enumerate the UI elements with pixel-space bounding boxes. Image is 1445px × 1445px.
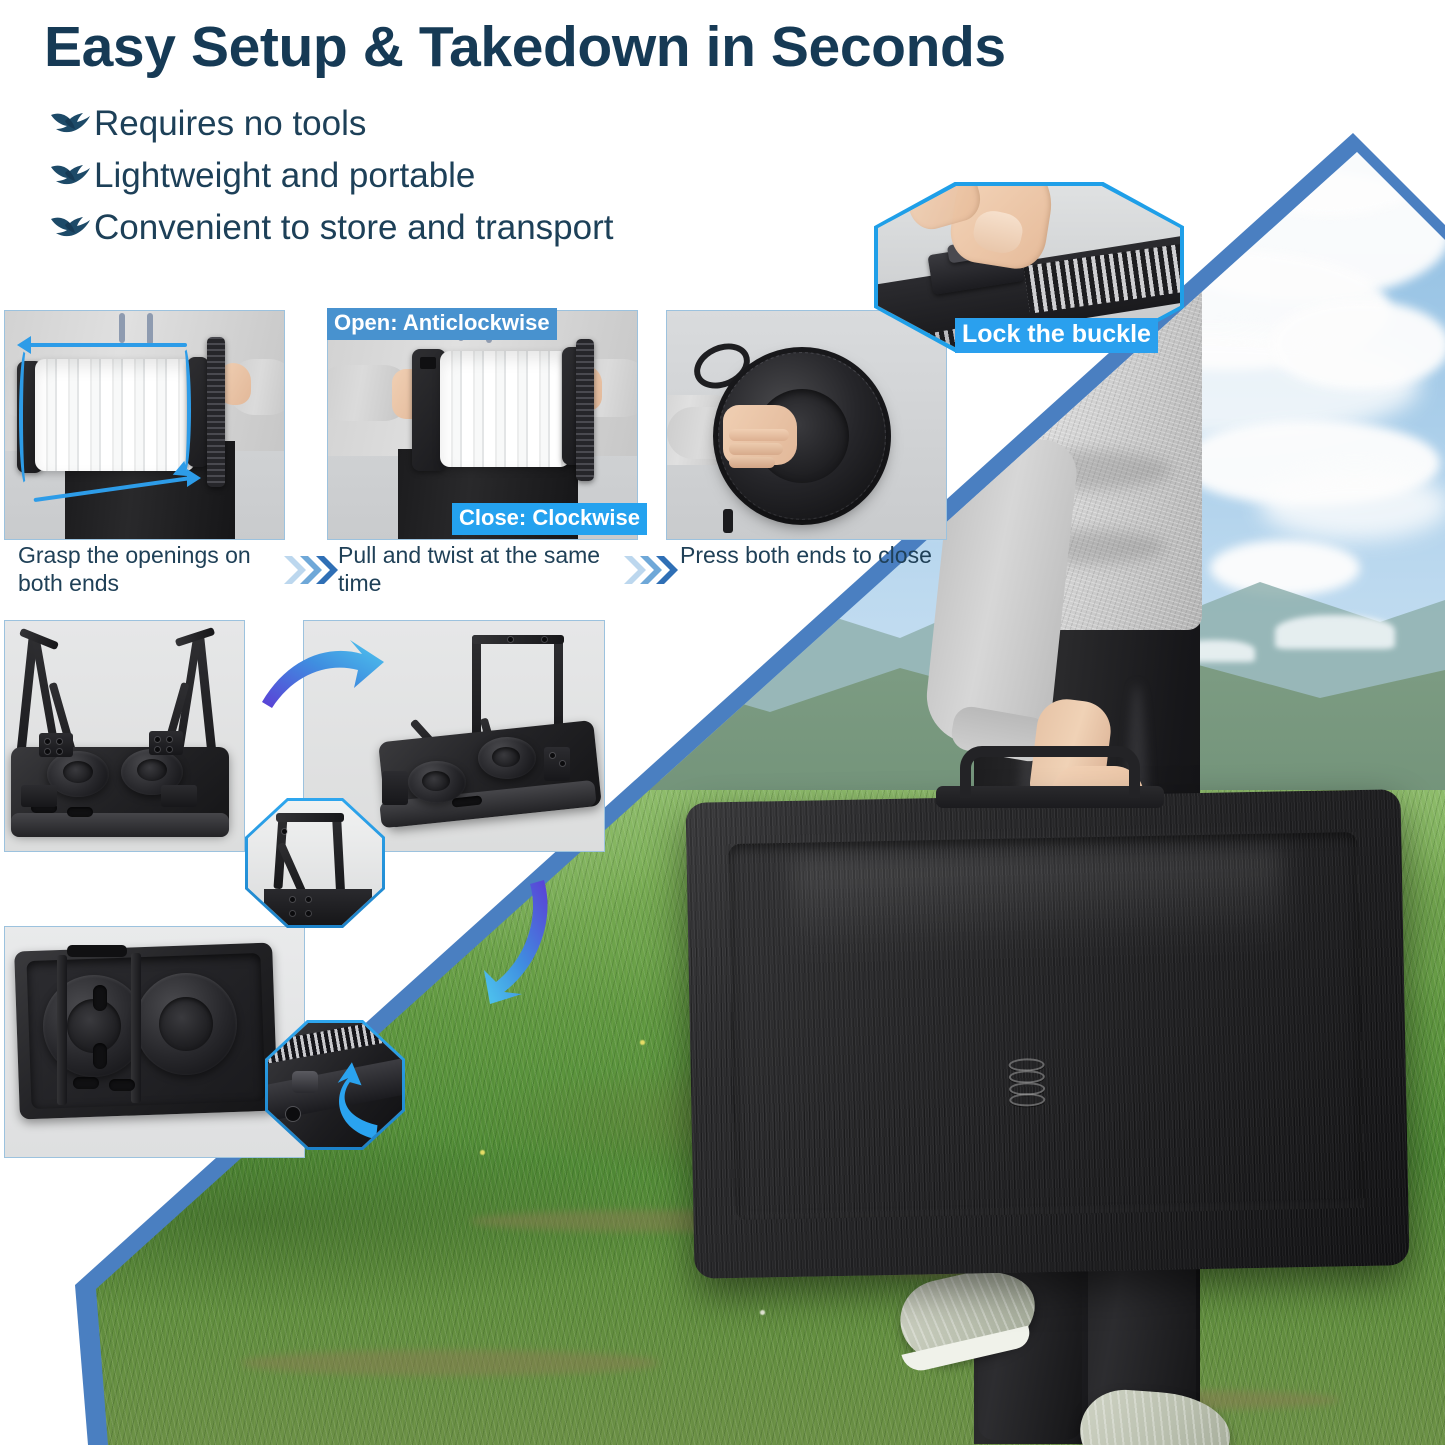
dirt-patch xyxy=(240,1350,660,1376)
drawstring xyxy=(147,313,153,345)
chevron-right-triple-icon xyxy=(282,553,342,587)
chevron-right-triple-icon xyxy=(622,553,682,587)
folding-photo-1 xyxy=(4,620,245,852)
handle-recess xyxy=(67,945,127,957)
label-open-direction: Open: Anticlockwise xyxy=(327,308,557,340)
vent-slot xyxy=(73,1077,99,1089)
finger xyxy=(729,429,789,441)
brand-logo-emboss xyxy=(1008,1058,1045,1107)
bird-icon xyxy=(48,107,94,141)
bolt-hole xyxy=(306,911,311,916)
bird-icon xyxy=(48,211,94,245)
callout-hinge-detail xyxy=(245,798,385,928)
step-caption-3: Press both ends to close xyxy=(680,541,960,569)
bolt-hole xyxy=(57,749,62,754)
vent-slot xyxy=(109,1079,135,1091)
photo xyxy=(5,311,284,539)
case-gloss xyxy=(791,848,1283,955)
frame-crossbar xyxy=(276,813,344,822)
disc-hub xyxy=(137,759,167,781)
label-lock-buckle: Lock the buckle xyxy=(955,318,1158,353)
feature-bullet-list: Requires no tools Lightweight and portab… xyxy=(48,98,613,254)
snow-cap xyxy=(1275,615,1395,649)
case-handle xyxy=(960,746,1140,798)
list-item-label: Requires no tools xyxy=(94,104,366,144)
measure-curve-right xyxy=(177,345,191,475)
flower xyxy=(420,880,425,885)
bolt-hole xyxy=(550,753,555,758)
label-close-direction: Close: Clockwise xyxy=(452,503,647,535)
curved-arrow-icon xyxy=(470,876,566,1006)
bolt-hole xyxy=(155,747,160,752)
list-item: Requires no tools xyxy=(48,98,613,150)
list-item-label: Convenient to store and transport xyxy=(94,208,613,248)
vent-slot xyxy=(93,985,107,1011)
tray-slot xyxy=(67,807,93,817)
shoe-texture xyxy=(1077,1387,1233,1445)
list-item: Lightweight and portable xyxy=(48,150,613,202)
bolt-hole xyxy=(167,747,172,752)
carry-strap xyxy=(207,337,225,487)
vent-slot xyxy=(93,1043,107,1069)
flower xyxy=(760,1310,765,1315)
step-photo-1 xyxy=(4,310,285,540)
accordion-drum xyxy=(35,359,195,471)
list-item: Convenient to store and transport xyxy=(48,202,613,254)
disc-hub xyxy=(159,997,213,1051)
case-body xyxy=(685,789,1409,1279)
measure-arrow-top xyxy=(27,343,187,347)
disc-hub xyxy=(63,761,93,783)
curved-arrow-icon xyxy=(258,636,388,716)
bird-icon xyxy=(48,159,94,193)
bolt-hole xyxy=(45,749,50,754)
finger xyxy=(729,443,783,455)
flower xyxy=(480,1150,485,1155)
flower xyxy=(360,990,365,995)
logo-ring xyxy=(1009,1093,1045,1107)
bolt-hole xyxy=(542,637,547,642)
product-case xyxy=(690,760,1405,1280)
frame-crossbar xyxy=(472,635,564,644)
stand-foot xyxy=(723,509,733,533)
hinge-bracket xyxy=(39,733,73,757)
callout-latch-detail xyxy=(265,1020,405,1150)
bolt-hole xyxy=(290,897,295,902)
disc-hub xyxy=(422,771,450,791)
step-caption-2: Pull and twist at the same time xyxy=(338,541,618,597)
list-item-label: Lightweight and portable xyxy=(94,156,475,196)
finger xyxy=(729,457,775,468)
flower xyxy=(640,1040,645,1045)
page-title: Easy Setup & Takedown in Seconds xyxy=(44,14,1006,80)
case-inner-panel xyxy=(728,832,1364,1220)
buckle-clip xyxy=(420,357,436,369)
disc-hub xyxy=(492,747,520,767)
hinge-bracket xyxy=(544,747,570,781)
support-rail xyxy=(57,955,67,1105)
bolt-hole xyxy=(508,637,513,642)
cloud xyxy=(1270,300,1445,390)
bolt-hole xyxy=(290,911,295,916)
bolt-hole xyxy=(282,829,287,834)
hinge-bracket xyxy=(21,785,57,807)
bolt-hole xyxy=(155,737,160,742)
bolt-hole xyxy=(306,897,311,902)
bolt-hole xyxy=(167,737,172,742)
hinge-bracket xyxy=(382,771,408,805)
bolt-hole xyxy=(57,739,62,744)
hinge-bracket xyxy=(161,785,197,807)
step-caption-1: Grasp the openings on both ends xyxy=(18,541,273,597)
drawstring xyxy=(119,313,125,343)
carry-strap xyxy=(576,339,594,481)
cloud xyxy=(1260,470,1445,540)
rotate-arrow-icon xyxy=(314,1045,400,1145)
bolt-hole xyxy=(45,739,50,744)
hinge-bracket xyxy=(149,731,183,755)
shoe-right xyxy=(1077,1387,1233,1445)
tray-lip xyxy=(11,813,229,837)
pivot-screw xyxy=(286,1107,300,1121)
measure-curve-left xyxy=(19,347,33,487)
bolt-hole xyxy=(560,761,565,766)
underside-photo xyxy=(4,926,305,1158)
accordion-drum xyxy=(440,351,570,467)
